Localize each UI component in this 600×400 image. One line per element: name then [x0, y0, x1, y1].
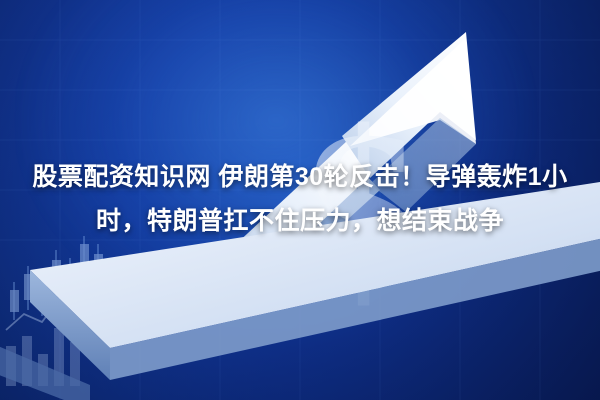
thumbnail-image: $	[0, 0, 600, 400]
headline-line-1: 股票配资知识网 伊朗第30轮反击！导弹轰炸1小	[18, 155, 582, 199]
site-name: 股票配资知识网	[32, 163, 211, 191]
headline-line-2: 时，特朗普扛不住压力，想结束战争	[18, 199, 582, 243]
headline-text: 股票配资知识网 伊朗第30轮反击！导弹轰炸1小 时，特朗普扛不住压力，想结束战争	[0, 155, 600, 243]
headline-line-1-rest: 伊朗第30轮反击！导弹轰炸1小	[211, 163, 568, 191]
